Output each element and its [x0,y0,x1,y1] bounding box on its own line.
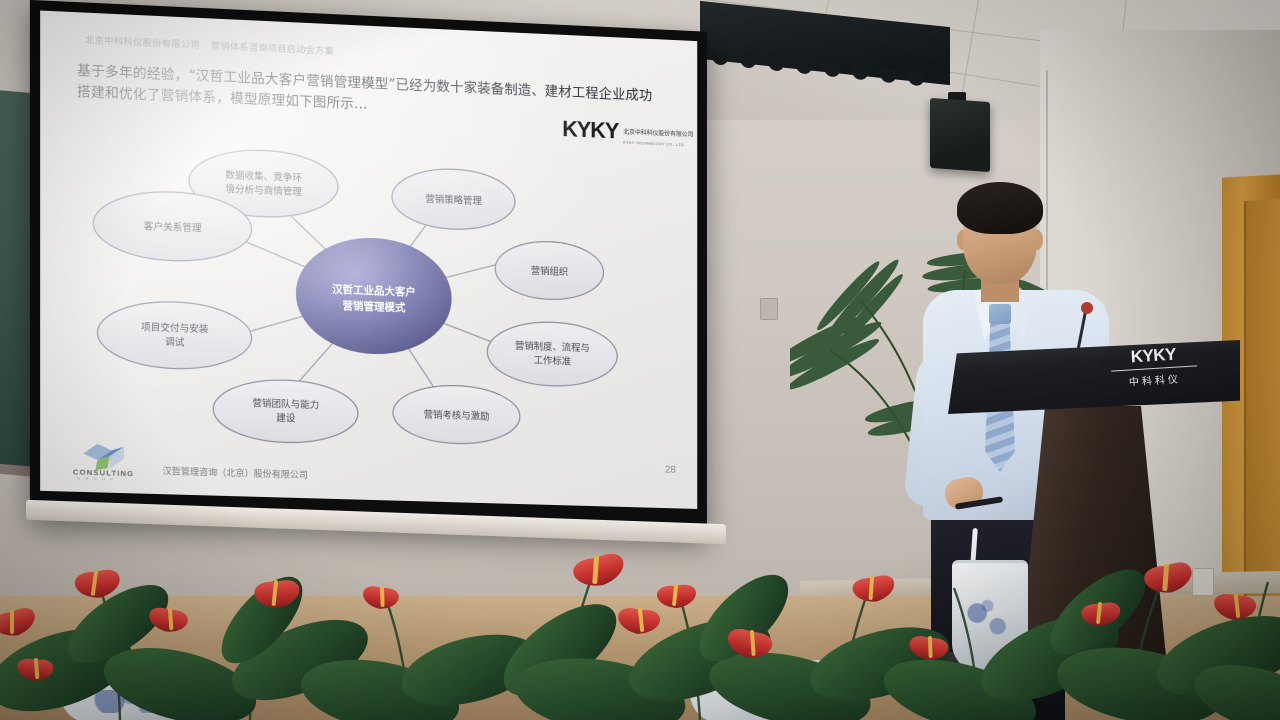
node-label-line1: 项目交付与安装 [141,321,209,335]
diagram-node-marketing-strategy: 营销策略管理 [392,167,515,232]
slide-header: 北京中科科仪股份有限公司 营销体系咨询项目启动会方案 [85,33,334,57]
diagram-node-marketing-team: 营销团队与能力 建设 [213,378,358,445]
door-panel[interactable] [1244,199,1280,601]
node-label-line1: 营销考核与激励 [424,409,490,423]
consulting-sub-word: G R O U P [77,476,115,482]
wall-outlet [1192,568,1214,596]
presenter-hair [957,182,1043,234]
diagram-center-node: 汉哲工业品大客户 营销管理模式 [296,235,452,357]
diagram-node-marketing-system-process: 营销制度、流程与 工作标准 [487,320,617,388]
marketing-model-diagram: 数据收集、竞争环 境分析与商情管理 营销策略管理 营销组织 营销制度、流程与 [61,133,680,455]
node-label-line2: 建设 [276,412,296,425]
slide-page-number: 28 [665,465,676,476]
necktie-knot [989,304,1011,324]
flower-pot [952,560,1028,673]
diagram-node-marketing-organization: 营销组织 [495,240,603,302]
kyky-logo: KYKY 北京中科科仪股份有限公司 KYKY TECHNOLOGY CO., L… [562,116,693,147]
node-label-line1: 营销团队与能力 [252,397,319,411]
node-label-line1: 营销组织 [531,265,568,278]
flower-pot [690,660,850,720]
center-label-line2: 营销管理模式 [343,299,406,314]
node-label-line2: 工作标准 [534,354,572,367]
diagram-node-marketing-appraisal: 营销考核与激励 [393,384,520,446]
diagram-node-project-delivery: 项目交付与安装 调试 [97,299,251,371]
projection-screen: 北京中科科仪股份有限公司 营销体系咨询项目启动会方案 基于多年的经验，“汉哲工业… [30,0,707,537]
light-switch[interactable] [760,298,778,320]
slide-header-company: 北京中科科仪股份有限公司 [85,35,200,50]
slide-canvas: 北京中科科仪股份有限公司 营销体系咨询项目启动会方案 基于多年的经验，“汉哲工业… [40,11,697,509]
slide-header-subject: 营销体系咨询项目启动会方案 [211,41,334,57]
footer-company-name: 汉哲管理咨询（北京）股份有限公司 [163,464,308,481]
node-label-line2: 调试 [165,336,185,349]
presentation-scene: 北京中科科仪股份有限公司 营销体系咨询项目启动会方案 基于多年的经验，“汉哲工业… [0,0,1280,720]
flower-pot [60,676,210,720]
kyky-logo-text: 北京中科科仪股份有限公司 KYKY TECHNOLOGY CO., LTD. [623,129,693,147]
podium-branding: KYKY 中科科仪 [1093,342,1215,390]
microphone-head [1081,302,1093,314]
node-label-line1: 营销策略管理 [425,193,482,207]
kyky-wordmark: KYKY [562,116,618,144]
node-label-line1: 客户关系管理 [144,220,202,234]
